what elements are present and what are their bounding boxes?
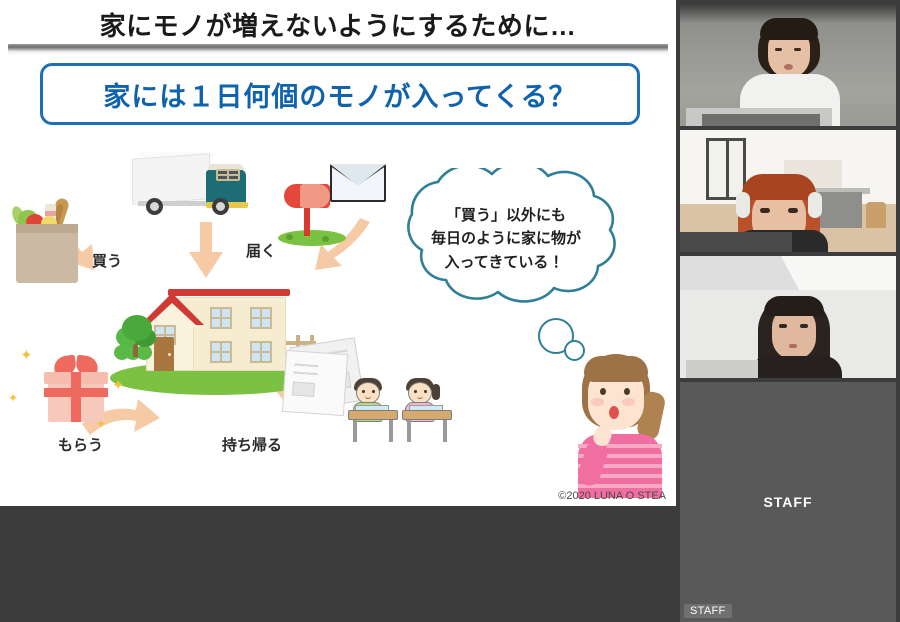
bubble-line-3: 入ってきている ！ [400, 251, 612, 274]
thinking-woman-illustration [566, 348, 672, 498]
video-off-placeholder: STAFF [680, 382, 896, 622]
video-tile-3[interactable] [680, 256, 896, 378]
title-rule-shadow [8, 51, 668, 55]
title-rule [8, 44, 668, 51]
placeholder-label: STAFF [763, 494, 812, 510]
slide: 家にモノが増えないようにするために… 家には１日何個のモノが入ってくる？ [0, 0, 676, 506]
sparkle-icon: ✦ [112, 378, 125, 393]
thought-bubble-text: 「買う」以外にも 毎日のように家に物が 入ってきている ！ [400, 204, 612, 274]
meeting-screenshare-window: 家にモノが増えないようにするために… 家には１日何個のモノが入ってくる？ [0, 0, 900, 506]
arrow-delivery-icon [189, 222, 223, 278]
page-title: 家にモノが増えないようにするために… [0, 4, 676, 44]
sparkle-icon: ✦ [96, 418, 106, 430]
participant-name-chip: STAFF [684, 604, 732, 618]
children-at-desks-icon [348, 370, 458, 448]
video-tile-2[interactable] [680, 130, 896, 252]
grocery-bag-icon [12, 198, 84, 283]
video-tile-4-staff[interactable]: STAFF STAFF [680, 382, 896, 622]
video-feed-1 [680, 4, 896, 126]
sparkle-icon: ✦ [8, 392, 18, 404]
bubble-line-2: 毎日のように家に物が [400, 227, 612, 250]
delivery-truck-icon [132, 152, 252, 230]
video-tile-1[interactable] [680, 4, 896, 126]
participant-video-strip: STAFF STAFF [676, 0, 900, 506]
gift-box-icon [38, 352, 112, 426]
label-delivered: 届く [246, 240, 276, 261]
shared-slide-area: 家にモノが増えないようにするために… 家には１日何個のモノが入ってくる？ [0, 0, 676, 506]
headline-box: 家には１日何個のモノが入ってくる？ [40, 63, 640, 125]
label-buy: 買う [92, 250, 122, 271]
headline-text: 家には１日何個のモノが入ってくる？ [103, 75, 576, 114]
label-bring-home: 持ち帰る [222, 434, 282, 455]
video-feed-3 [680, 256, 896, 378]
video-feed-2 [680, 130, 896, 252]
bubble-line-1: 「買う」以外にも [400, 204, 612, 227]
thought-bubble: 「買う」以外にも 毎日のように家に物が 入ってきている ！ [372, 168, 640, 318]
label-receive: もらう [58, 434, 103, 455]
copyright-notice: ©2020 LUNA O STEA [558, 490, 666, 502]
sparkle-icon: ✦ [20, 348, 33, 363]
illustration-canvas: 買う 届く [0, 130, 676, 506]
